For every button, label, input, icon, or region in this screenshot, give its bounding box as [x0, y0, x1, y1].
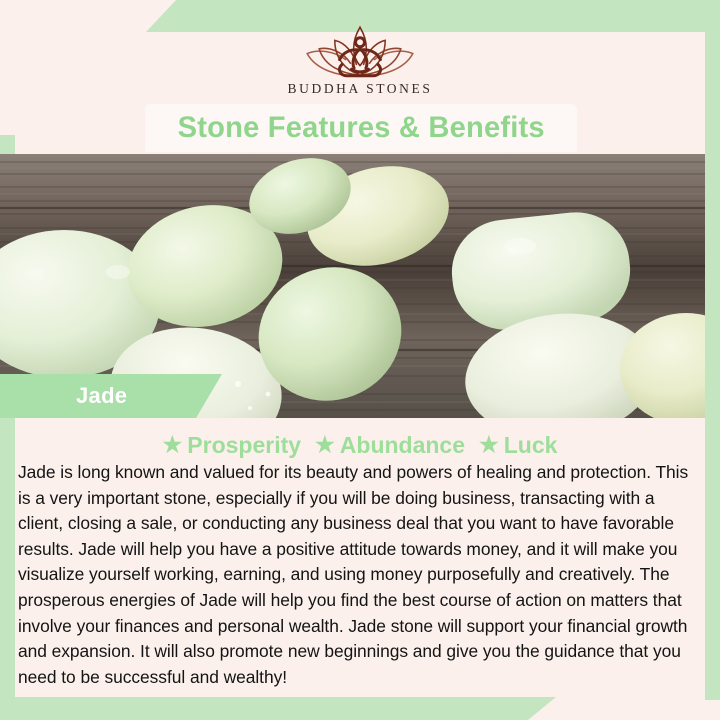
- benefit-item-prosperity: ★ Prosperity: [163, 432, 302, 459]
- stone-name-band: Jade: [0, 374, 230, 418]
- brand-name: BUDDHA STONES: [288, 81, 433, 97]
- stone-description: Jade is long known and valued for its be…: [18, 460, 702, 690]
- brand-logo: BUDDHA STONES: [0, 14, 720, 106]
- bottom-green-accent-bar: [0, 697, 720, 720]
- benefit-label: Abundance: [340, 432, 465, 459]
- benefit-item-luck: ★ Luck: [479, 432, 557, 459]
- benefit-label: Luck: [504, 432, 558, 459]
- star-icon: ★: [163, 434, 183, 456]
- stone-name-label: Jade: [76, 383, 127, 409]
- benefits-row: ★ Prosperity ★ Abundance ★ Luck: [0, 428, 720, 462]
- page-title: Stone Features & Benefits: [177, 111, 544, 145]
- stone-info-card: BUDDHA STONES Stone Features & Benefits: [0, 0, 720, 720]
- star-icon: ★: [315, 434, 335, 456]
- lotus-meditation-icon: [300, 14, 420, 80]
- benefit-label: Prosperity: [187, 432, 301, 459]
- benefit-item-abundance: ★ Abundance: [315, 432, 465, 459]
- star-icon: ★: [479, 434, 499, 456]
- title-banner: Stone Features & Benefits: [145, 104, 577, 152]
